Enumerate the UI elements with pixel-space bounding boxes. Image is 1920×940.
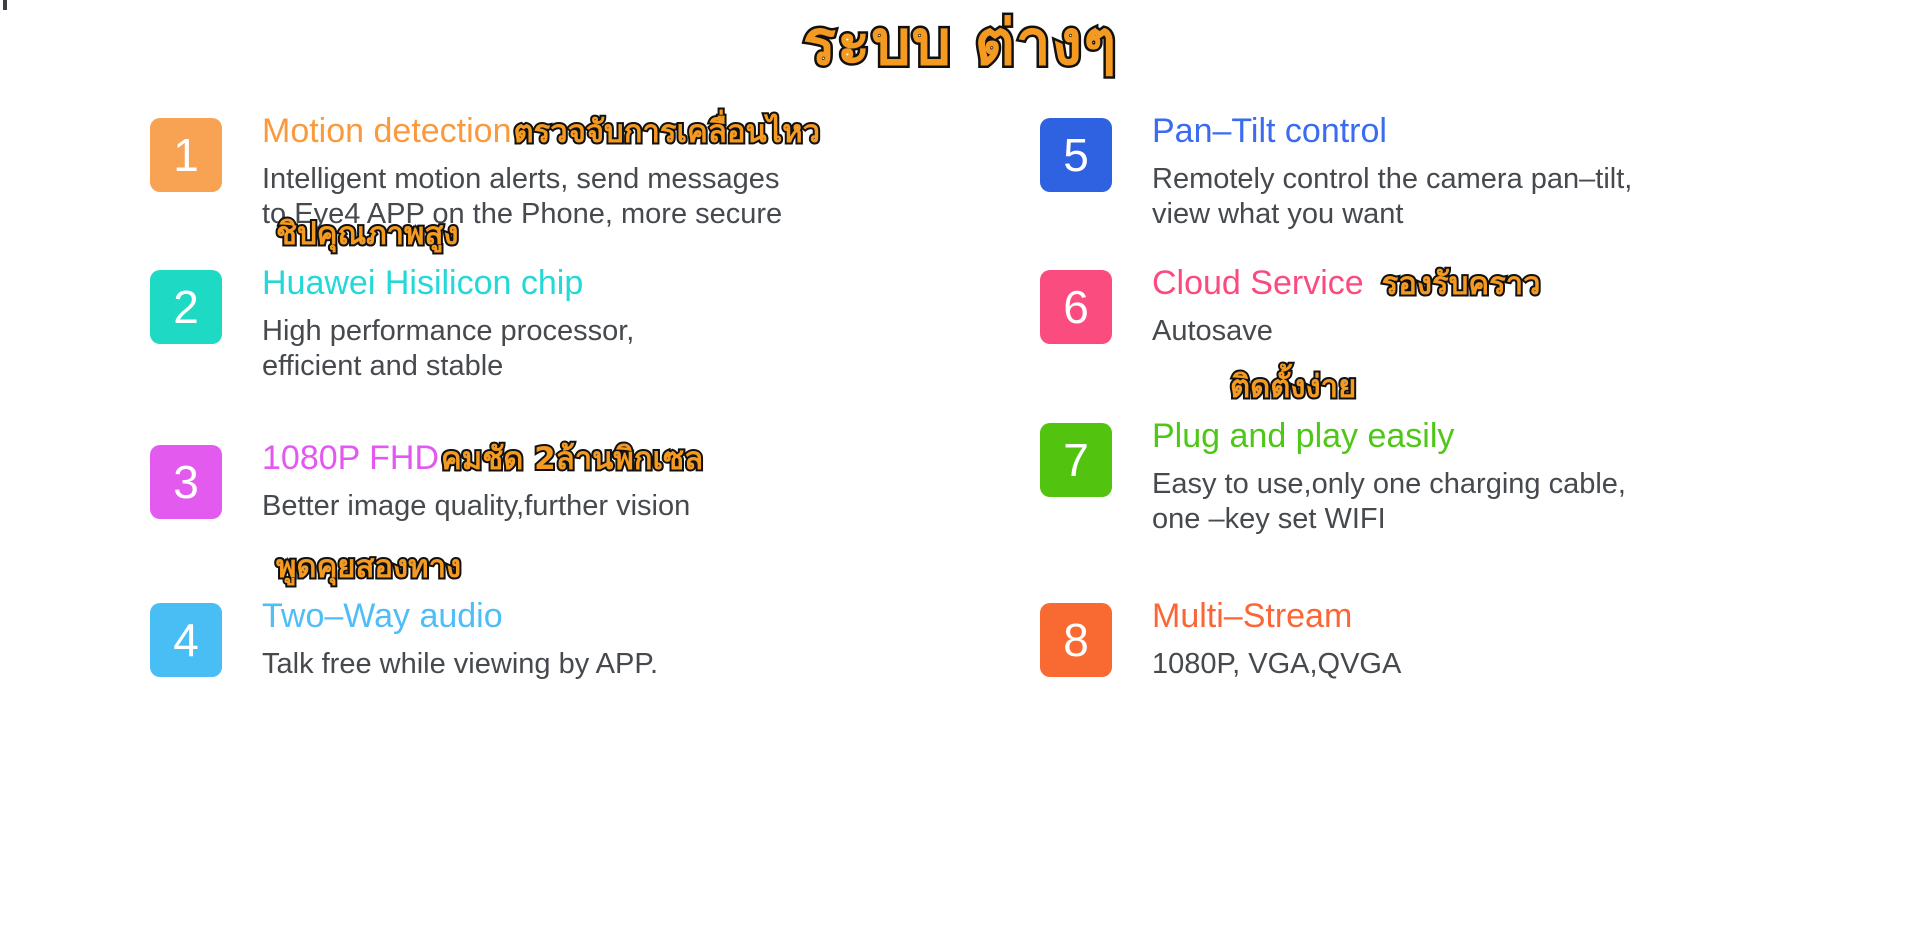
feature-heading-row-3: 1080P FHDคมชัด 2ล้านพิกเซล [262,441,1002,485]
feature-description-2: High performance processor, efficient an… [262,314,1002,385]
feature-body-4: พูดคุยสองทาง Two–Way audio Talk free whi… [262,599,1002,682]
page-title: ระบบ ต่างๆ [0,4,1920,82]
feature-heading-row-6: Cloud Serviceรองรับคราว [1152,266,1892,310]
feature-heading-row-4: Two–Way audio [262,599,1002,643]
feature-badge-5: 5 [1040,118,1112,192]
feature-description-4: Talk free while viewing by APP. [262,647,1002,682]
feature-heading-row-1: Motion detectionตรวจจับการเคลื่อนไหว [262,114,1002,158]
feature-heading-th-7: ติดตั้งง่าย [1230,361,1356,411]
feature-badge-6: 6 [1040,270,1112,344]
feature-description-6: Autosave [1152,314,1892,349]
feature-heading-en-8: Multi–Stream [1152,597,1352,635]
feature-description-5: Remotely control the camera pan–tilt, vi… [1152,162,1892,233]
feature-body-5: Pan–Tilt control Remotely control the ca… [1152,114,1892,233]
feature-heading-th-2: ชิปคุณภาพสูง [276,208,459,258]
feature-description-3: Better image quality,further vision [262,489,1002,524]
feature-badge-2: 2 [150,270,222,344]
feature-grid: 1 Motion detectionตรวจจับการเคลื่อนไหว I… [0,118,1920,808]
feature-description-7: Easy to use,only one charging cable, one… [1152,467,1892,538]
feature-heading-row-7: Plug and play easily [1152,419,1892,463]
feature-body-8: Multi–Stream 1080P, VGA,QVGA [1152,599,1892,682]
feature-heading-en-3: 1080P FHD [262,439,439,477]
feature-body-3: 1080P FHDคมชัด 2ล้านพิกเซล Better image … [262,441,1002,524]
feature-heading-th-3: คมชัด 2ล้านพิกเซล [441,441,703,477]
feature-heading-row-2: Huawei Hisilicon chip [262,266,1002,310]
feature-heading-en-2: Huawei Hisilicon chip [262,264,583,302]
feature-badge-1: 1 [150,118,222,192]
feature-heading-row-5: Pan–Tilt control [1152,114,1892,158]
feature-heading-th-1: ตรวจจับการเคลื่อนไหว [514,114,821,150]
feature-body-7: ติดตั้งง่าย Plug and play easily Easy to… [1152,419,1892,538]
feature-heading-en-7: Plug and play easily [1152,417,1454,455]
feature-heading-en-5: Pan–Tilt control [1152,112,1387,150]
feature-badge-7: 7 [1040,423,1112,497]
feature-heading-th-4: พูดคุยสองทาง [276,541,461,591]
feature-heading-row-8: Multi–Stream [1152,599,1892,643]
feature-heading-en-1: Motion detection [262,112,512,150]
feature-body-2: ชิปคุณภาพสูง Huawei Hisilicon chip High … [262,266,1002,385]
feature-badge-8: 8 [1040,603,1112,677]
feature-heading-th-6: รองรับคราว [1382,266,1541,302]
feature-badge-3: 3 [150,445,222,519]
feature-heading-en-6: Cloud Service [1152,264,1364,302]
feature-description-8: 1080P, VGA,QVGA [1152,647,1892,682]
feature-badge-4: 4 [150,603,222,677]
feature-heading-en-4: Two–Way audio [262,597,503,635]
feature-body-6: Cloud Serviceรองรับคราว Autosave [1152,266,1892,349]
